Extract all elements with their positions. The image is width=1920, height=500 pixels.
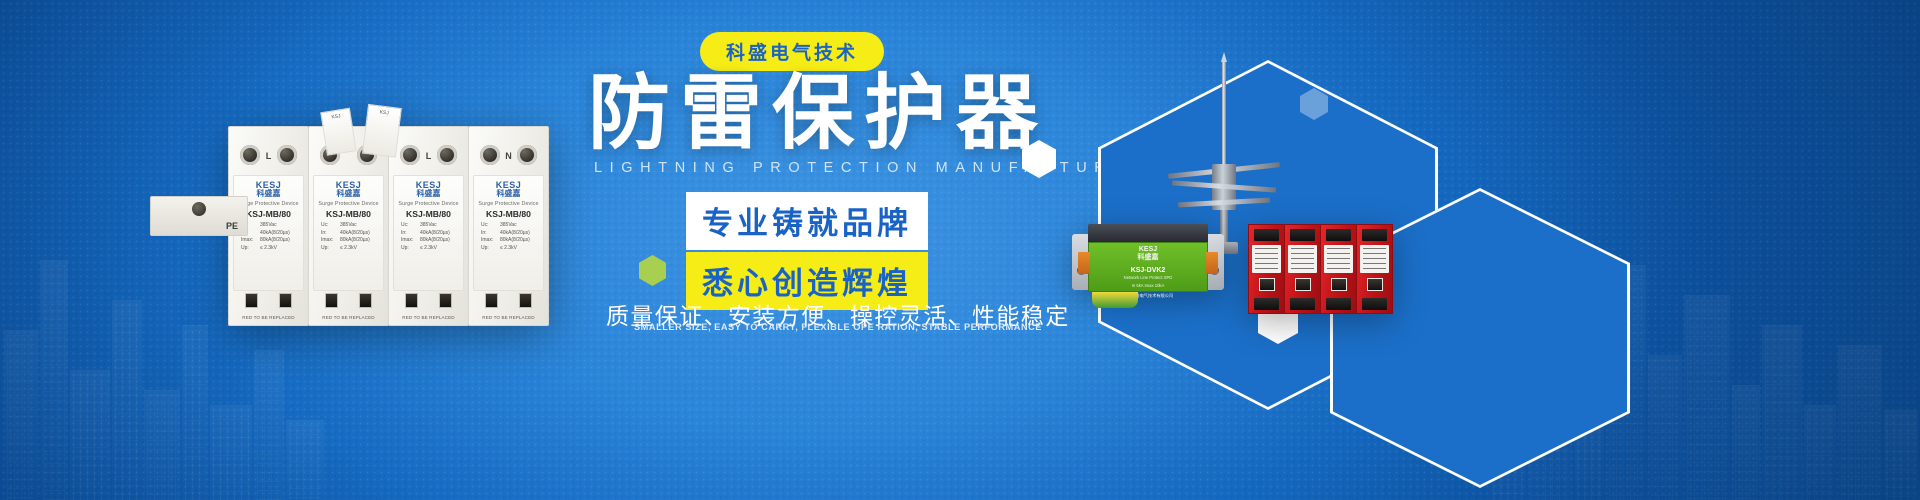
status-window-row bbox=[475, 293, 542, 308]
arrester-label bbox=[1288, 245, 1317, 273]
spec-value: 40kA(8/20µs) bbox=[420, 230, 450, 238]
status-window bbox=[1259, 278, 1275, 291]
spec-key: Imax: bbox=[321, 237, 340, 245]
red-arrester-module bbox=[1356, 224, 1393, 314]
spec-value: 385Vac bbox=[260, 222, 277, 230]
brand-latin: KESJ bbox=[1089, 246, 1207, 254]
arrester-label bbox=[1360, 245, 1389, 273]
spec-key: Uc: bbox=[401, 222, 420, 230]
spec-value: 40kA(8/20µs) bbox=[340, 230, 370, 238]
spec-key: Up: bbox=[241, 245, 260, 253]
terminal-block: L bbox=[389, 137, 468, 171]
brand-cn: 科盛嘉 bbox=[478, 190, 539, 199]
status-window bbox=[485, 293, 498, 308]
replace-note: RED TO BE REPLACED bbox=[389, 315, 468, 320]
spec-key: In: bbox=[321, 230, 340, 238]
spd-module: L KESJ 科盛嘉 Surge Protective Device KSJ-M… bbox=[388, 126, 469, 326]
spec-key: Up: bbox=[321, 245, 340, 253]
replace-note: RED TO BE REPLACED bbox=[229, 315, 308, 320]
terminal-cap bbox=[1290, 298, 1315, 310]
status-window bbox=[439, 293, 452, 308]
brand-cn: 科盛嘉 bbox=[1089, 254, 1207, 262]
page-title: 防雷保护器 bbox=[588, 72, 1048, 156]
device-model: KSJ-MB/80 bbox=[398, 209, 459, 219]
screw-terminal-icon bbox=[517, 145, 537, 165]
spec-value: 80kA(8/20µs) bbox=[420, 237, 450, 245]
spec-key: In: bbox=[401, 230, 420, 238]
red-surge-arrester-bank bbox=[1248, 224, 1398, 314]
pe-label: PE bbox=[226, 221, 238, 231]
spec-value: ≤ 2.3kV bbox=[340, 245, 357, 253]
slogan-group: 专业铸就品牌 悉心创造辉煌 bbox=[686, 192, 928, 310]
red-arrester-module bbox=[1284, 224, 1321, 314]
status-window-row bbox=[235, 293, 302, 308]
status-window bbox=[359, 293, 372, 308]
spec-value: 80kA(8/20µs) bbox=[340, 237, 370, 245]
spd-label-face: KESJ 科盛嘉 Surge Protective Device KSJ-MB/… bbox=[473, 175, 544, 291]
spec-key: Up: bbox=[481, 245, 500, 253]
screw-terminal-icon bbox=[192, 202, 206, 216]
spec-value: ≤ 2.3kV bbox=[260, 245, 277, 253]
screw-terminal-icon bbox=[400, 145, 420, 165]
spec-key: Imax: bbox=[241, 237, 260, 245]
hexagon-accent-small bbox=[1022, 140, 1056, 178]
replace-note: RED TO BE REPLACED bbox=[309, 315, 388, 320]
brand-cn: 科盛嘉 bbox=[398, 190, 459, 199]
spec-key: Imax: bbox=[481, 237, 500, 245]
status-window bbox=[519, 293, 532, 308]
promo-banner: L KESJ 科盛嘉 Surge Protective Device KSJ-M… bbox=[0, 0, 1920, 500]
device-spec-line: Network Line Protect SPD bbox=[1089, 275, 1207, 281]
status-window bbox=[1295, 278, 1311, 291]
spec-value: 80kA(8/20µs) bbox=[500, 237, 530, 245]
spd-label-face: KESJ 科盛嘉 Surge Protective Device KSJ-MB/… bbox=[393, 175, 464, 291]
device-subtitle: Surge Protective Device bbox=[478, 201, 539, 207]
device-specs: Uc:385Vac In:40kA(8/20µs) Imax:80kA(8/20… bbox=[478, 222, 539, 252]
red-arrester-module bbox=[1248, 224, 1285, 314]
arrester-label bbox=[1324, 245, 1353, 273]
spec-key: Uc: bbox=[481, 222, 500, 230]
phase-label: L bbox=[426, 151, 432, 161]
terminal-cap bbox=[1254, 298, 1279, 310]
terminal-connector bbox=[1078, 252, 1090, 274]
device-model: KSJ-MB/80 bbox=[478, 209, 539, 219]
terminal-cap bbox=[1290, 229, 1315, 241]
terminal-connector bbox=[1206, 252, 1218, 274]
spec-key: Imax: bbox=[401, 237, 420, 245]
spd-module: KESJ 科盛嘉 Surge Protective Device KSJ-MB/… bbox=[308, 126, 389, 326]
pe-terminal-block: PE bbox=[150, 196, 248, 236]
feature-tagline-en: SMALLER SIZE, EASY TO CARRY, FLEXIBLE OP… bbox=[634, 322, 1042, 332]
status-window bbox=[1331, 278, 1347, 291]
spec-key: Up: bbox=[401, 245, 420, 253]
terminal-cap bbox=[1362, 229, 1387, 241]
spd-label-face: KESJ 科盛嘉 Surge Protective Device KSJ-MB/… bbox=[313, 175, 384, 291]
spec-value: ≤ 2.3kV bbox=[500, 245, 517, 253]
arrester-label bbox=[1252, 245, 1281, 273]
status-window bbox=[279, 293, 292, 308]
paper-tag: KSJ bbox=[362, 104, 402, 158]
device-face: KESJ 科盛嘉 KSJ-DVK2 Network Line Protect S… bbox=[1088, 242, 1208, 292]
terminal-cap bbox=[1362, 298, 1387, 310]
spec-value: 80kA(8/20µs) bbox=[260, 237, 290, 245]
paper-tag: KSJ bbox=[320, 108, 357, 156]
status-window-row bbox=[395, 293, 462, 308]
spd-module: N KESJ 科盛嘉 Surge Protective Device KSJ-M… bbox=[468, 126, 549, 326]
ground-wire bbox=[1092, 292, 1138, 308]
device-subtitle: Surge Protective Device bbox=[398, 201, 459, 207]
screw-terminal-icon bbox=[240, 145, 260, 165]
status-window bbox=[1367, 278, 1383, 291]
device-specs: Uc:385Vac In:40kA(8/20µs) Imax:80kA(8/20… bbox=[318, 222, 379, 252]
spd-module-group: L KESJ 科盛嘉 Surge Protective Device KSJ-M… bbox=[228, 126, 550, 332]
screw-terminal-icon bbox=[277, 145, 297, 165]
rod-spike bbox=[1222, 60, 1226, 178]
phase-label: L bbox=[266, 151, 272, 161]
terminal-cap bbox=[1254, 229, 1279, 241]
device-subtitle: Surge Protective Device bbox=[318, 201, 379, 207]
spec-value: 385Vac bbox=[420, 222, 437, 230]
terminal-cap bbox=[1326, 298, 1351, 310]
status-window bbox=[405, 293, 418, 308]
spec-value: 40kA(8/20µs) bbox=[260, 230, 290, 238]
spec-value: 385Vac bbox=[500, 222, 517, 230]
device-spec-line: In 5kA Imax 10kA bbox=[1089, 283, 1207, 289]
screw-terminal-icon bbox=[480, 145, 500, 165]
terminal-block: L bbox=[229, 137, 308, 171]
spec-key: In: bbox=[481, 230, 500, 238]
green-hexagon-decoration bbox=[639, 255, 666, 286]
status-window bbox=[325, 293, 338, 308]
device-specs: Uc:385Vac In:40kA(8/20µs) Imax:80kA(8/20… bbox=[398, 222, 459, 252]
phase-label: N bbox=[505, 151, 512, 161]
red-arrester-module bbox=[1320, 224, 1357, 314]
device-model: KSJ-MB/80 bbox=[318, 209, 379, 219]
slogan-primary: 专业铸就品牌 bbox=[686, 192, 928, 250]
spec-value: ≤ 2.3kV bbox=[420, 245, 437, 253]
screw-terminal-icon bbox=[437, 145, 457, 165]
network-spd-product: KESJ 科盛嘉 KSJ-DVK2 Network Line Protect S… bbox=[1072, 224, 1224, 296]
status-window bbox=[245, 293, 258, 308]
status-window-row bbox=[315, 293, 382, 308]
terminal-block: N bbox=[469, 137, 548, 171]
spec-value: 40kA(8/20µs) bbox=[500, 230, 530, 238]
terminal-cap bbox=[1326, 229, 1351, 241]
device-lid bbox=[1088, 224, 1208, 244]
spec-key: Uc: bbox=[321, 222, 340, 230]
device-model: KSJ-DVK2 bbox=[1089, 267, 1207, 274]
replace-note: RED TO BE REPLACED bbox=[469, 315, 548, 320]
brand-cn: 科盛嘉 bbox=[318, 190, 379, 199]
spec-value: 385Vac bbox=[340, 222, 357, 230]
